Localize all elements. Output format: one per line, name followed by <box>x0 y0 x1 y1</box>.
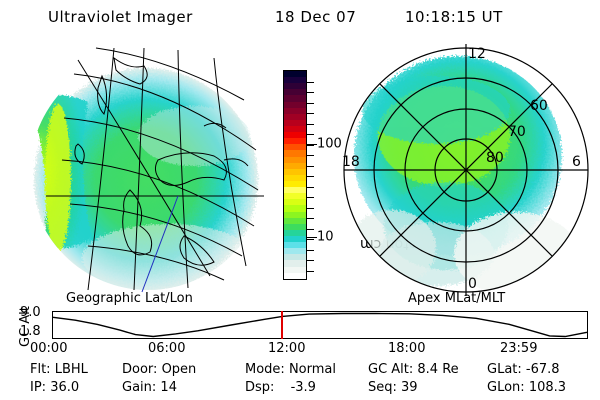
colorbar-minor-tick <box>307 155 314 156</box>
status-gain-label: Gain: <box>122 380 156 395</box>
status-filter: Flt: LBHL <box>30 362 88 377</box>
colorbar-minor-tick <box>307 239 314 240</box>
colorbar-minor-tick <box>307 187 314 188</box>
colorbar-tick-label-100: 100 <box>317 137 342 152</box>
mlt-label-18: 18 <box>342 154 360 170</box>
status-glon: GLon: 108.3 <box>487 380 566 395</box>
mlt-label-6: 6 <box>572 154 581 170</box>
observation-date: 18 Dec 07 <box>275 8 356 26</box>
colorbar-minor-tick <box>307 82 314 83</box>
colorbar-minor-tick <box>307 271 314 272</box>
status-glat-value: -67.8 <box>526 362 560 377</box>
colorbar-tick-label-10: 10 <box>317 229 334 244</box>
status-gcalt-label: GC Alt: <box>368 362 413 377</box>
colorbar-minor-tick <box>307 103 314 104</box>
status-mode-value: Normal <box>289 362 336 377</box>
status-mode-label: Mode: <box>245 362 285 377</box>
status-gcalt-value: 8.4 Re <box>417 362 458 377</box>
colorbar-minor-tick <box>307 208 314 209</box>
orbit-xtick-0000: 00:00 <box>30 341 67 356</box>
observation-time: 10:18:15 UT <box>405 8 503 26</box>
mlt-label-12: 12 <box>468 46 486 62</box>
status-door: Door: Open <box>122 362 196 377</box>
status-ip-value: 36.0 <box>50 380 79 395</box>
colorbar-minor-tick <box>307 218 314 219</box>
status-gcalt: GC Alt: 8.4 Re <box>368 362 459 377</box>
orbit-xtick-0600: 06:00 <box>148 341 185 356</box>
status-bar: Flt: LBHL IP: 36.0 Door: Open Gain: 14 M… <box>0 362 600 400</box>
colorbar-minor-tick <box>307 113 314 114</box>
colorbar-minor-tick <box>307 92 314 93</box>
status-gain: Gain: 14 <box>122 380 177 395</box>
orbit-xtick-1800: 18:00 <box>388 341 425 356</box>
orbit-time-marker[interactable] <box>281 311 283 339</box>
colorbar <box>283 70 309 280</box>
status-door-value: Open <box>162 362 197 377</box>
status-ip-label: IP: <box>30 380 46 395</box>
status-dsp: Dsp: -3.9 <box>245 380 316 395</box>
status-seq-value: 39 <box>401 380 418 395</box>
colorbar-minor-tick <box>307 197 314 198</box>
orbit-xtick-1200: 12:00 <box>268 341 305 356</box>
status-glon-value: 108.3 <box>529 380 566 395</box>
mlat-label-70: 70 <box>508 124 526 140</box>
status-filter-label: Flt: <box>30 362 51 377</box>
colorbar-gradient <box>283 70 307 280</box>
orbit-altitude-trace <box>53 314 587 337</box>
colorbar-major-tick-0 <box>307 144 317 145</box>
colorbar-minor-tick <box>307 250 314 251</box>
status-ip: IP: 36.0 <box>30 380 79 395</box>
mlt-label-0: 0 <box>468 276 477 292</box>
status-glon-label: GLon: <box>487 380 525 395</box>
colorbar-minor-tick <box>307 124 314 125</box>
instrument-name: Ultraviolet Imager <box>48 8 193 26</box>
colorbar-major-tick-1 <box>307 237 317 238</box>
title-bar: Ultraviolet Imager 18 Dec 07 10:18:15 UT <box>0 8 600 30</box>
status-seq-label: Seq: <box>368 380 397 395</box>
apex-plot-title: Apex MLat/MLT <box>408 291 505 306</box>
orbit-altitude-plot[interactable] <box>52 311 588 339</box>
status-filter-value: LBHL <box>55 362 88 377</box>
geographic-aurora-plot[interactable] <box>18 40 268 298</box>
colorbar-band-33 <box>284 273 306 279</box>
colorbar-minor-tick <box>307 166 314 167</box>
mlt-spokes <box>344 44 588 296</box>
status-dsp-value: -3.9 <box>291 380 316 395</box>
status-glat: GLat: -67.8 <box>487 362 560 377</box>
status-seq: Seq: 39 <box>368 380 418 395</box>
apex-aurora-plot[interactable]: 60 70 80 12 6 0 18 <box>340 40 592 298</box>
status-mode: Mode: Normal <box>245 362 336 377</box>
status-dsp-label: Dsp: <box>245 380 274 395</box>
geographic-plot-title: Geographic Lat/Lon <box>66 291 193 306</box>
colorbar-minor-tick <box>307 134 314 135</box>
colorbar-minor-tick <box>307 176 314 177</box>
status-gain-value: 14 <box>160 380 177 395</box>
status-door-label: Door: <box>122 362 157 377</box>
orbit-xtick-2359: 23:59 <box>500 341 537 356</box>
colorbar-minor-tick <box>307 260 314 261</box>
colorbar-minor-tick <box>307 229 314 230</box>
mlat-label-80: 80 <box>486 150 504 166</box>
colorbar-axis-label: photon cm-2s-1 <box>261 110 281 270</box>
status-glat-label: GLat: <box>487 362 522 377</box>
mlat-label-60: 60 <box>530 98 548 114</box>
